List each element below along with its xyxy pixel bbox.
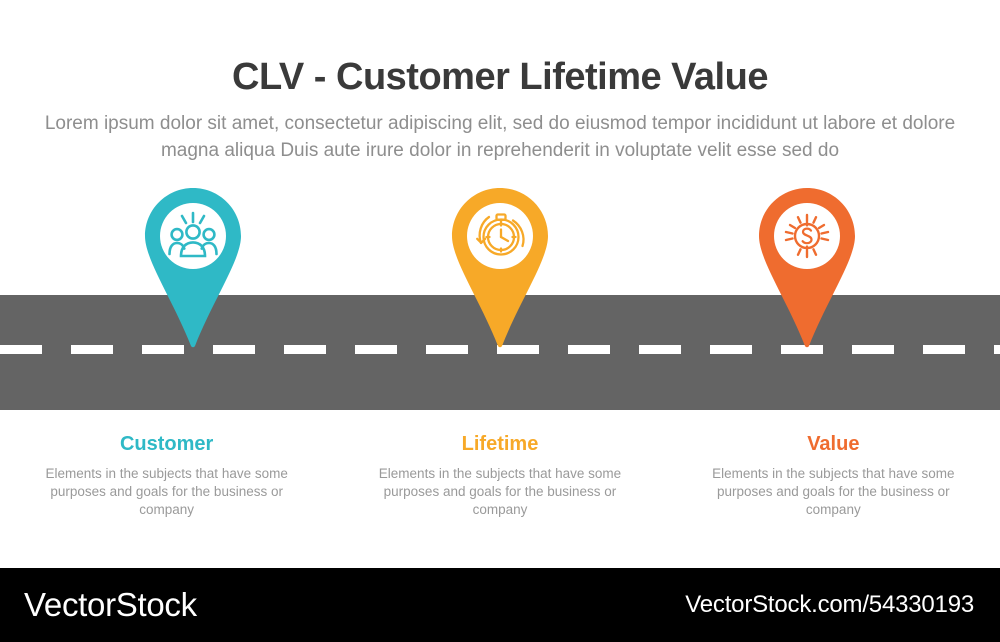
road-dash [568,345,610,354]
watermark-footer: VectorStock VectorStock.com/54330193 [0,568,1000,642]
page-title: CLV - Customer Lifetime Value [0,0,1000,98]
item-description-value: Elements in the subjects that have some … [693,465,974,520]
road-dash [710,345,752,354]
map-pin-customer[interactable] [145,188,241,348]
item-title-lifetime: Lifetime [359,432,640,456]
item-title-value: Value [693,432,974,456]
watermark-url: VectorStock.com/54330193 [685,591,974,619]
road-dash [852,345,894,354]
watermark-brand: VectorStock [24,586,197,624]
item-column-value: Value Elements in the subjects that have… [667,432,1000,520]
item-description-lifetime: Elements in the subjects that have some … [359,465,640,520]
page-subtitle: Lorem ipsum dolor sit amet, consectetur … [40,98,960,165]
item-column-lifetime: Lifetime Elements in the subjects that h… [333,432,666,520]
infographic-canvas: CLV - Customer Lifetime Value Lorem ipsu… [0,0,1000,642]
road-dash [923,345,965,354]
road-dash [639,345,681,354]
item-description-customer: Elements in the subjects that have some … [26,465,307,520]
item-column-customer: Customer Elements in the subjects that h… [0,432,333,520]
road-dash [0,345,42,354]
map-pin-value[interactable] [759,188,855,348]
item-columns: Customer Elements in the subjects that h… [0,432,1000,520]
road-dash [284,345,326,354]
road-dash [994,345,1000,354]
road-dash [355,345,397,354]
item-title-customer: Customer [26,432,307,456]
road-dash [71,345,113,354]
map-pin-lifetime[interactable] [452,188,548,348]
header: CLV - Customer Lifetime Value Lorem ipsu… [0,0,1000,165]
